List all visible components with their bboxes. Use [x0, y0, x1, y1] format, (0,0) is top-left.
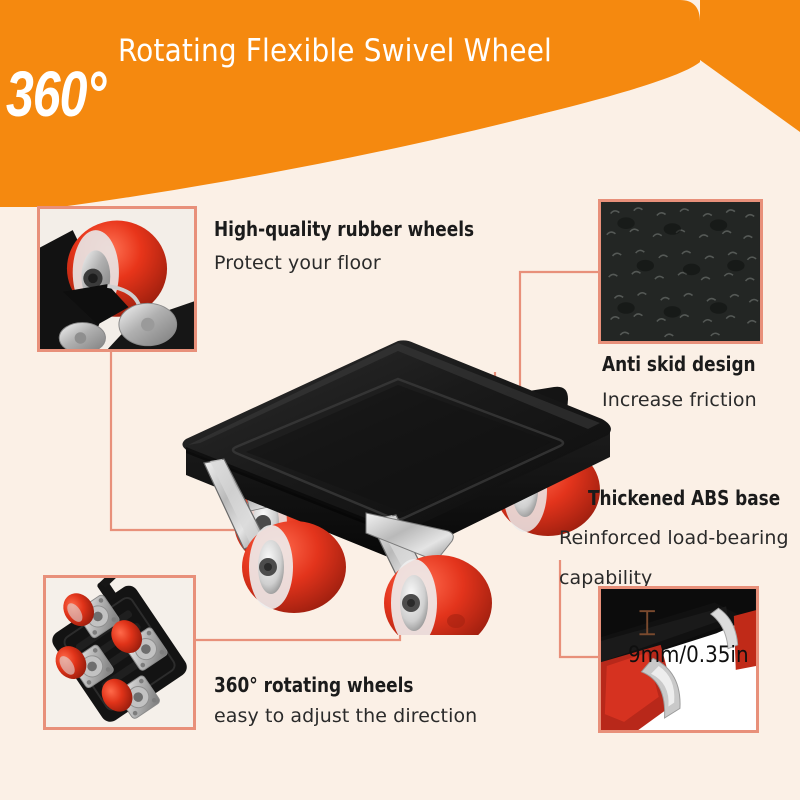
photo-box-anti-skid: [598, 199, 763, 344]
heading-rotating-wheels: 360° rotating wheels: [214, 673, 414, 697]
photo-dolly-underside: [46, 578, 193, 727]
subtext-anti-skid: Increase friction: [602, 389, 757, 411]
photo-anti-skid-texture: [601, 202, 760, 342]
subtext-rotating-wheels: easy to adjust the direction: [214, 705, 477, 727]
caster-front-center: [366, 513, 492, 635]
heading-abs-base: Thickened ABS base: [588, 486, 780, 510]
photo-base-thickness: 9mm/0.35in: [601, 589, 756, 731]
dimension-label: 9mm/0.35in: [628, 642, 749, 668]
heading-anti-skid: Anti skid design: [602, 352, 756, 376]
subtext-rubber-wheels: Protect your floor: [214, 252, 381, 274]
photo-box-rubber-wheels: [37, 206, 197, 352]
infographic-canvas: Rotating Flexible Swivel Wheel 360°: [0, 0, 800, 800]
photo-box-rotating-wheels: [43, 575, 196, 730]
photo-rubber-wheel-closeup: [40, 209, 194, 350]
photo-box-dimension: 9mm/0.35in: [598, 586, 759, 733]
heading-rubber-wheels: High-quality rubber wheels: [214, 217, 474, 241]
